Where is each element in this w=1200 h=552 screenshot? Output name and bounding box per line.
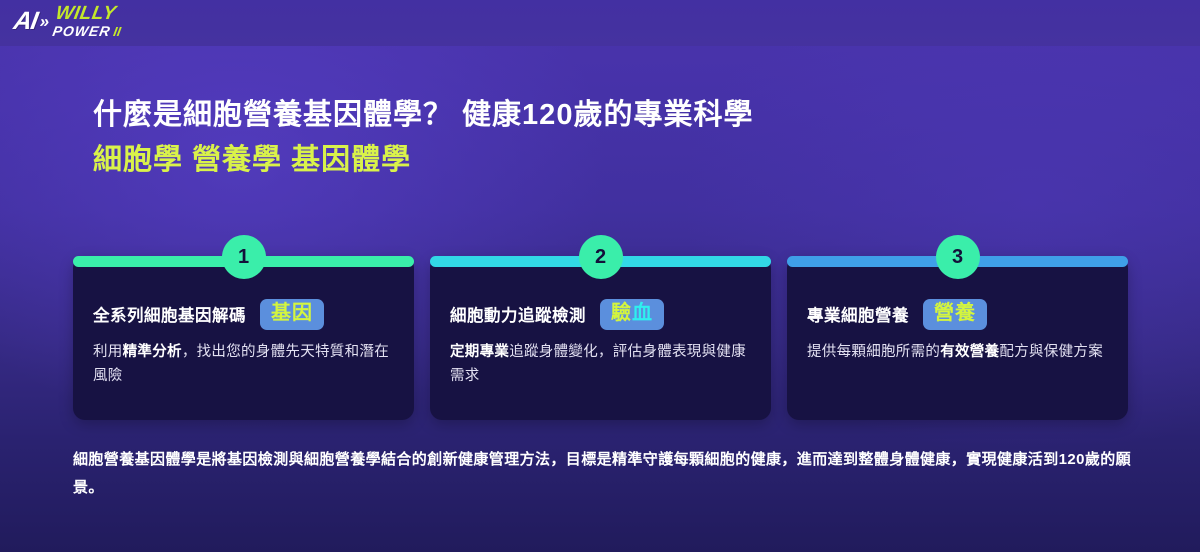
card-badge-1: 基因 (260, 299, 324, 330)
card-badge-2-segment-1: 驗 (611, 302, 632, 325)
card-body-2: 定期專業追蹤身體變化，評估身體表現與健康需求 (450, 341, 751, 389)
headline-secondary: 細胞學 營養學 基因體學 (93, 141, 753, 180)
card-body-3: 提供每顆細胞所需的有效營養配方與保健方案 (807, 341, 1108, 365)
card-body-1-bold: 精準分析 (123, 344, 182, 360)
page-title: 什麼是細胞營養基因體學？ 健康120歲的專業科學 細胞學 營養學 基因體學 (93, 96, 753, 180)
brand-logo[interactable]: AI » WILLY POWER II (11, 4, 126, 38)
card-badge-2: 驗血 (600, 299, 664, 330)
card-badge-2-segment-2: 血 (632, 302, 653, 325)
card-body-3-prefix: 提供每顆細胞所需的 (807, 344, 940, 360)
card-title-3: 專業細胞營養 (807, 302, 909, 326)
headline-primary: 什麼是細胞營養基因體學？ 健康120歲的專業科學 (93, 96, 753, 135)
card-title-1: 全系列細胞基因解碼 (93, 302, 246, 326)
card-header-3: 專業細胞營養 營養 (807, 297, 1108, 331)
card-body-1-prefix: 利用 (93, 344, 123, 360)
card-body-3-bold: 有效營養 (940, 344, 999, 360)
logo-chevron-icon: » (39, 13, 51, 30)
logo-power-text: POWER (51, 24, 111, 38)
card-step-number-3: 3 (936, 235, 980, 279)
feature-card-list: 1 全系列細胞基因解碼 基因 利用精準分析，找出您的身體先天特質和潛在風險 2 … (73, 256, 1129, 420)
logo-power-row: POWER II (51, 24, 122, 38)
feature-card-3[interactable]: 3 專業細胞營養 營養 提供每顆細胞所需的有效營養配方與保健方案 (787, 256, 1128, 420)
card-content-1: 全系列細胞基因解碼 基因 利用精準分析，找出您的身體先天特質和潛在風險 (73, 267, 414, 420)
card-badge-3: 營養 (923, 299, 987, 330)
summary-paragraph: 細胞營養基因體學是將基因檢測與細胞營養學結合的創新健康管理方法，目標是精準守護每… (73, 446, 1133, 502)
card-step-number-2: 2 (579, 235, 623, 279)
card-badge-1-segment-1: 基因 (271, 302, 313, 325)
feature-card-1[interactable]: 1 全系列細胞基因解碼 基因 利用精準分析，找出您的身體先天特質和潛在風險 (73, 256, 414, 420)
card-body-1: 利用精準分析，找出您的身體先天特質和潛在風險 (93, 341, 394, 389)
card-body-2-bold: 定期專業 (450, 344, 509, 360)
card-step-number-1: 1 (222, 235, 266, 279)
card-header-1: 全系列細胞基因解碼 基因 (93, 297, 394, 331)
card-content-3: 專業細胞營養 營養 提供每顆細胞所需的有效營養配方與保健方案 (787, 267, 1128, 420)
header-bar (0, 0, 1200, 46)
feature-card-2[interactable]: 2 細胞動力追蹤檢測 驗血 定期專業追蹤身體變化，評估身體表現與健康需求 (430, 256, 771, 420)
card-body-3-suffix: 配方與保健方案 (999, 344, 1103, 360)
card-content-2: 細胞動力追蹤檢測 驗血 定期專業追蹤身體變化，評估身體表現與健康需求 (430, 267, 771, 420)
slide-canvas: AI » WILLY POWER II 什麼是細胞營養基因體學？ 健康120歲的… (0, 0, 1200, 552)
card-header-2: 細胞動力追蹤檢測 驗血 (450, 297, 751, 331)
logo-ai-text: AI (12, 9, 39, 34)
card-badge-3-segment-1: 營養 (934, 302, 976, 325)
logo-wordmark: WILLY POWER II (51, 4, 125, 38)
logo-willy-text: WILLY (54, 4, 125, 23)
card-title-2: 細胞動力追蹤檢測 (450, 302, 586, 326)
